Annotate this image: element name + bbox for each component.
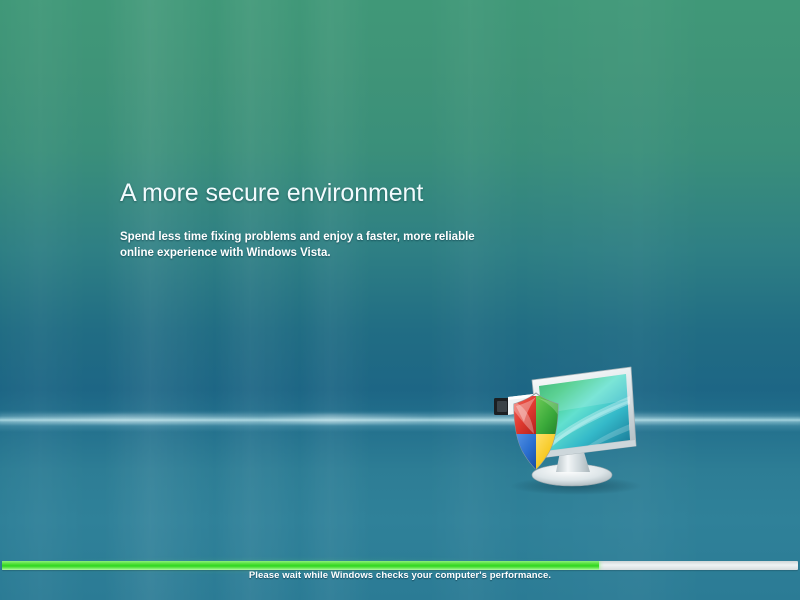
- marketing-text-block: A more secure environment Spend less tim…: [120, 178, 640, 261]
- progress-bar-fill: [2, 561, 599, 570]
- background-light-streaks: [0, 0, 800, 600]
- shield-quadrant-blue: [510, 434, 536, 474]
- page-title: A more secure environment: [120, 178, 640, 208]
- horizon-glow: [0, 410, 800, 432]
- status-message: Please wait while Windows checks your co…: [0, 570, 800, 581]
- horizon-glow-highlight: [0, 414, 800, 424]
- monitor-shield-illustration: [480, 360, 660, 500]
- windows-security-shield-icon: [510, 393, 562, 474]
- setup-screen: A more secure environment Spend less tim…: [0, 0, 800, 600]
- setup-progress-bar: [2, 561, 798, 570]
- page-subtitle: Spend less time fixing problems and enjo…: [120, 230, 505, 261]
